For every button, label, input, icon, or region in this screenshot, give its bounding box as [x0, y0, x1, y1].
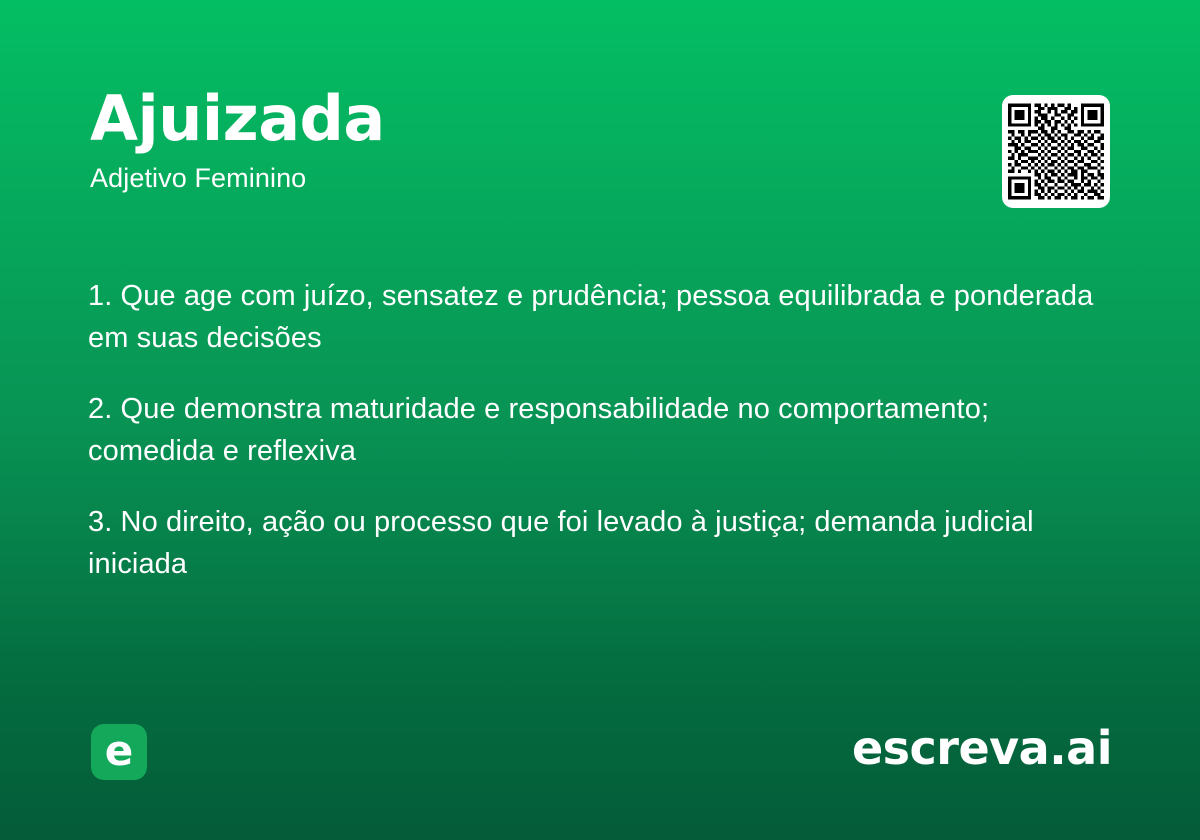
definition-list: 1. Que age com juízo, sensatez e prudênc… — [88, 246, 1102, 585]
list-item: 3. No direito, ação ou processo que foi … — [88, 501, 1102, 585]
qr-code-panel[interactable] — [1002, 95, 1110, 208]
brand-name: escreva.ai — [852, 722, 1112, 775]
list-item: 2. Que demonstra maturidade e responsabi… — [88, 388, 1102, 472]
qr-code-icon — [1008, 102, 1104, 201]
page-title: Ajuizada — [90, 88, 970, 150]
list-item: 1. Que age com juízo, sensatez e prudênc… — [88, 275, 1102, 359]
brand-logo[interactable]: e — [91, 724, 147, 780]
brand-logo-letter: e — [91, 724, 147, 780]
dictionary-card: Ajuizada Adjetivo Feminino 1. Que age co… — [0, 0, 1200, 840]
card-header: Ajuizada Adjetivo Feminino — [90, 88, 970, 194]
word-class-label: Adjetivo Feminino — [90, 164, 970, 194]
